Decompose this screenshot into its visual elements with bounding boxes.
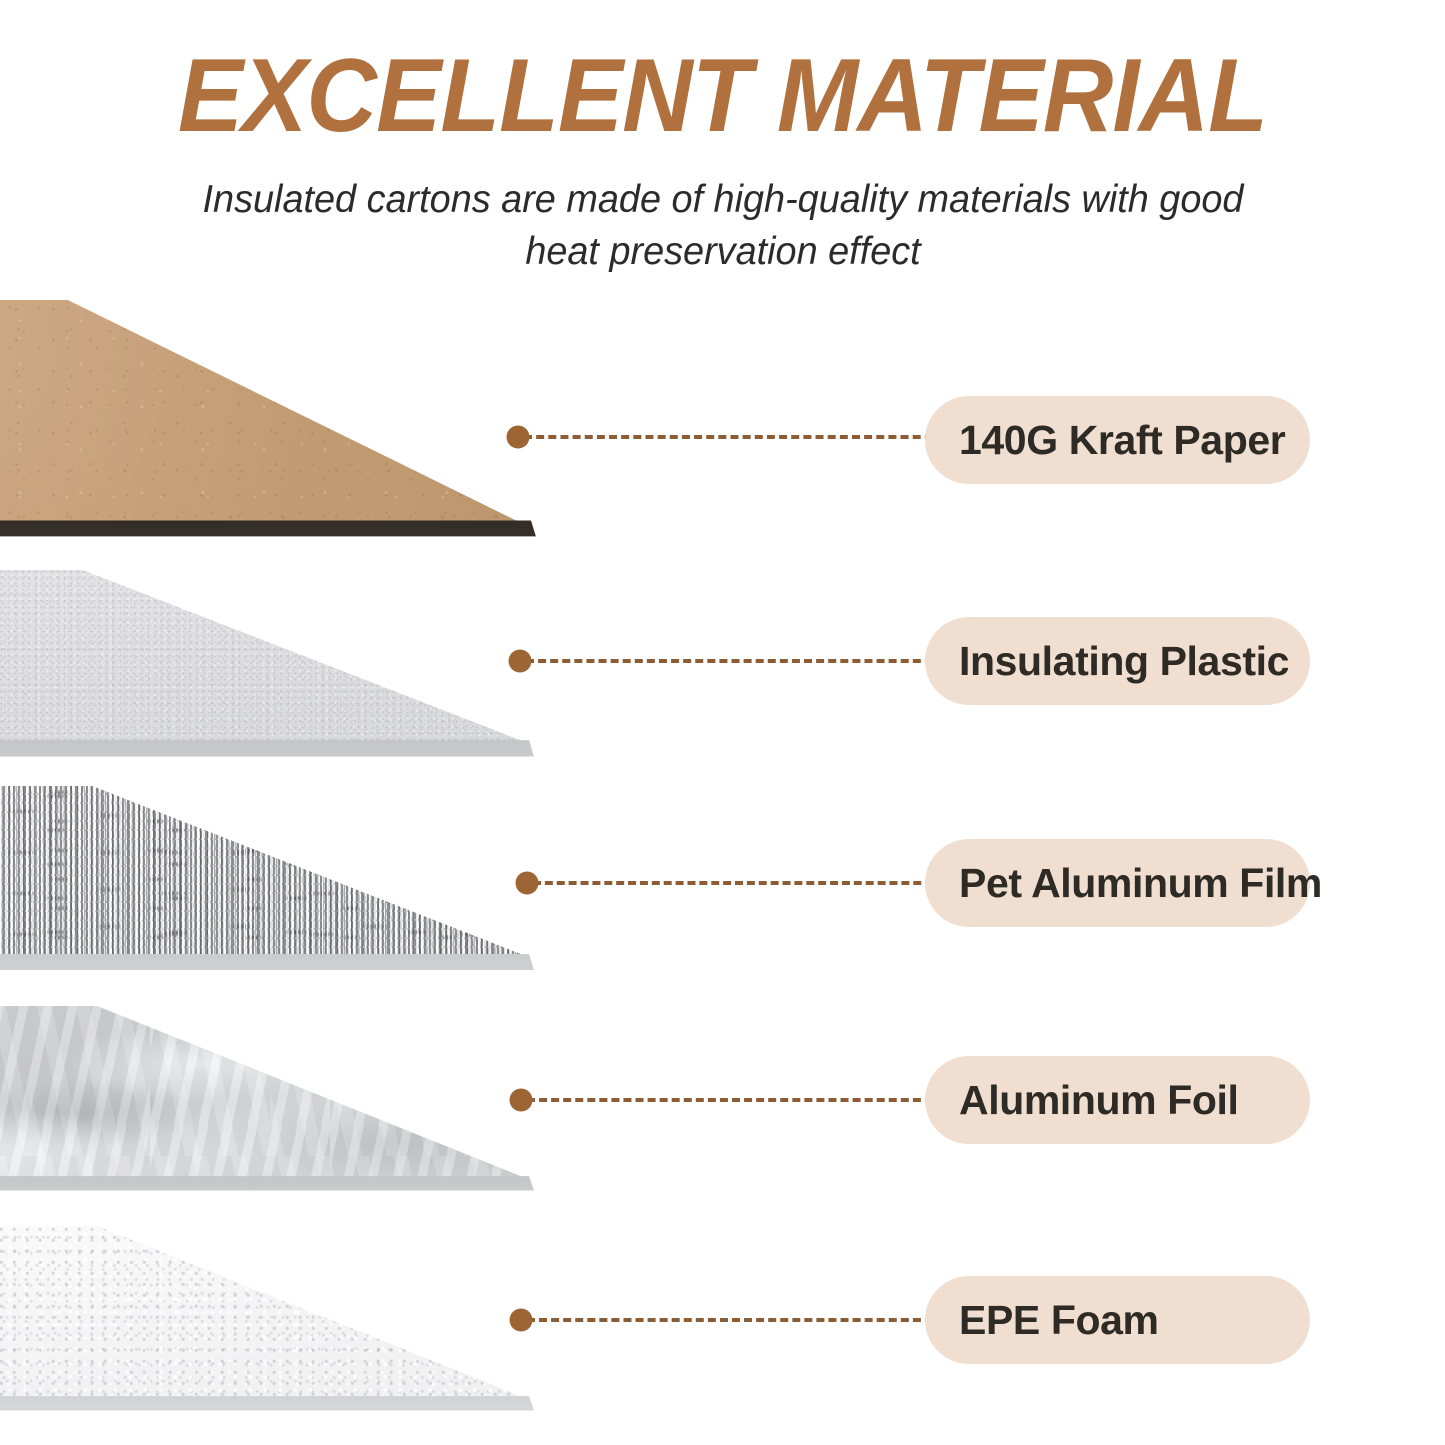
callout-connector-epe-foam bbox=[527, 1318, 945, 1322]
callout-connector-kraft-paper bbox=[524, 435, 945, 439]
layer-label-pill-pet-aluminum-film[interactable]: Pet Aluminum Film bbox=[925, 839, 1310, 927]
layer-epe-foam[interactable] bbox=[0, 1226, 765, 1431]
layer-label-text: EPE Foam bbox=[959, 1297, 1159, 1344]
page-subtitle: Insulated cartons are made of high-quali… bbox=[194, 148, 1251, 279]
callout-dot-pet-aluminum-film[interactable] bbox=[516, 872, 539, 895]
layer-label-text: Pet Aluminum Film bbox=[959, 860, 1322, 907]
callout-dot-epe-foam[interactable] bbox=[510, 1309, 533, 1332]
page-title: EXCELLENT MATERIAL bbox=[43, 0, 1401, 148]
callout-dot-aluminum-foil[interactable] bbox=[510, 1089, 533, 1112]
layer-label-pill-epe-foam[interactable]: EPE Foam bbox=[925, 1276, 1310, 1364]
layer-pet-aluminum-film[interactable] bbox=[0, 786, 765, 986]
callout-connector-insulating-plastic bbox=[526, 659, 945, 663]
layer-label-text: Aluminum Foil bbox=[959, 1077, 1239, 1124]
layer-insulating-plastic[interactable] bbox=[0, 570, 765, 775]
header: EXCELLENT MATERIAL Insulated cartons are… bbox=[0, 0, 1445, 279]
callout-connector-aluminum-foil bbox=[527, 1098, 945, 1102]
layer-label-text: 140G Kraft Paper bbox=[959, 417, 1285, 464]
callout-connector-pet-aluminum-film bbox=[533, 881, 945, 885]
layer-label-pill-aluminum-foil[interactable]: Aluminum Foil bbox=[925, 1056, 1310, 1144]
layer-label-pill-kraft-paper[interactable]: 140G Kraft Paper bbox=[925, 396, 1310, 484]
material-infographic: EXCELLENT MATERIAL Insulated cartons are… bbox=[0, 0, 1445, 1445]
layer-label-text: Insulating Plastic bbox=[959, 638, 1289, 685]
layer-kraft-paper[interactable] bbox=[0, 300, 765, 545]
layer-label-pill-insulating-plastic[interactable]: Insulating Plastic bbox=[925, 617, 1310, 705]
callout-dot-kraft-paper[interactable] bbox=[507, 426, 530, 449]
callout-dot-insulating-plastic[interactable] bbox=[509, 650, 532, 673]
kraft-paper-texture bbox=[0, 300, 765, 545]
layer-aluminum-foil[interactable] bbox=[0, 1006, 765, 1211]
